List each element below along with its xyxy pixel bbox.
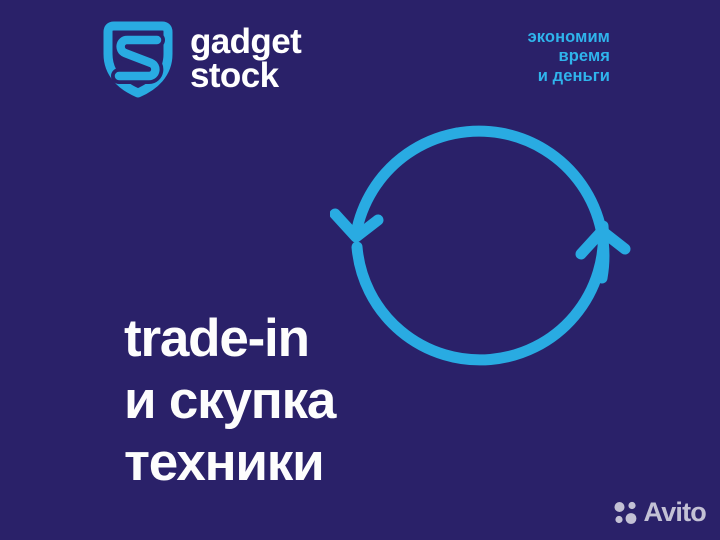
tagline-line1: экономим: [528, 28, 610, 47]
brand-wordmark: gadget stock: [190, 25, 301, 92]
avito-watermark: Avito: [613, 497, 707, 528]
tagline-line3: и деньги: [528, 67, 610, 86]
headline-line3: техники: [124, 436, 335, 489]
headline-block: trade-in и скупка техники: [124, 312, 335, 498]
tagline-block: экономим время и деньги: [528, 28, 610, 86]
headline-line1: trade-in: [124, 312, 335, 365]
circular-arrows-icon: [330, 95, 640, 385]
arc-bottom: [357, 226, 603, 360]
brand-name-line2: stock: [190, 59, 301, 93]
avito-label: Avito: [644, 497, 707, 528]
brand-logo: gadget stock: [100, 20, 301, 98]
headline-line2: и скупка: [124, 374, 335, 427]
advertisement-banner: gadget stock экономим время и деньги tra…: [0, 0, 720, 540]
tagline-line2: время: [528, 47, 610, 66]
shield-logo-icon: [100, 20, 176, 98]
avito-dots-icon: [613, 500, 639, 526]
arc-top: [356, 131, 604, 278]
brand-name-line1: gadget: [190, 25, 301, 59]
